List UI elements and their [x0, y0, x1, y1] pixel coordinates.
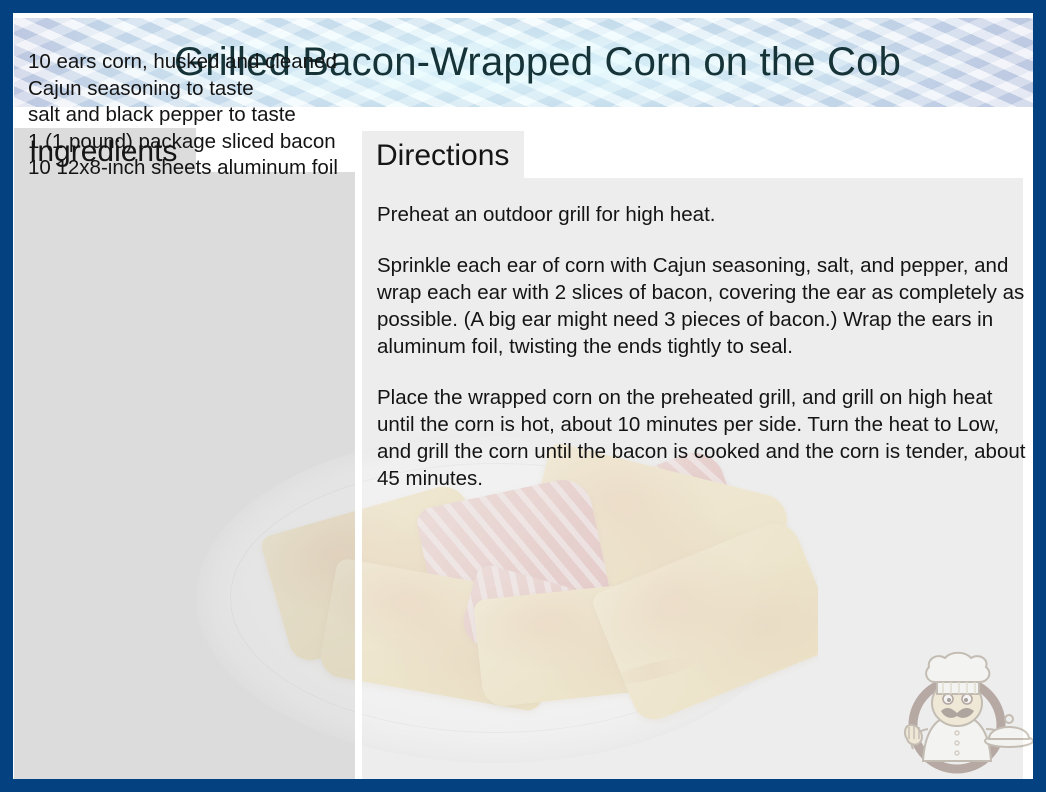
chef-logo — [897, 649, 1033, 779]
column-divider — [355, 121, 362, 779]
directions-paragraph: Preheat an outdoor grill for high heat. — [377, 201, 1032, 228]
list-item: Cajun seasoning to taste — [28, 76, 358, 103]
list-item: 10 ears corn, husked and cleaned — [28, 49, 358, 76]
directions-paragraph: Sprinkle each ear of corn with Cajun sea… — [377, 252, 1032, 360]
slide-canvas: Grilled Bacon-Wrapped Corn on the Cob In… — [13, 13, 1033, 779]
list-item: 10 12x8-inch sheets aluminum foil — [28, 155, 358, 182]
list-item: salt and black pepper to taste — [28, 102, 358, 129]
recipe-slide: Grilled Bacon-Wrapped Corn on the Cob In… — [0, 0, 1046, 792]
directions-paragraph: Place the wrapped corn on the preheated … — [377, 384, 1032, 492]
directions-body: Preheat an outdoor grill for high heat. … — [377, 201, 1032, 492]
list-item: 1 (1 pound) package sliced bacon — [28, 129, 358, 156]
directions-tab: Directions — [362, 131, 524, 178]
directions-heading: Directions — [362, 131, 524, 176]
ingredients-list: 10 ears corn, husked and cleaned Cajun s… — [28, 49, 358, 182]
